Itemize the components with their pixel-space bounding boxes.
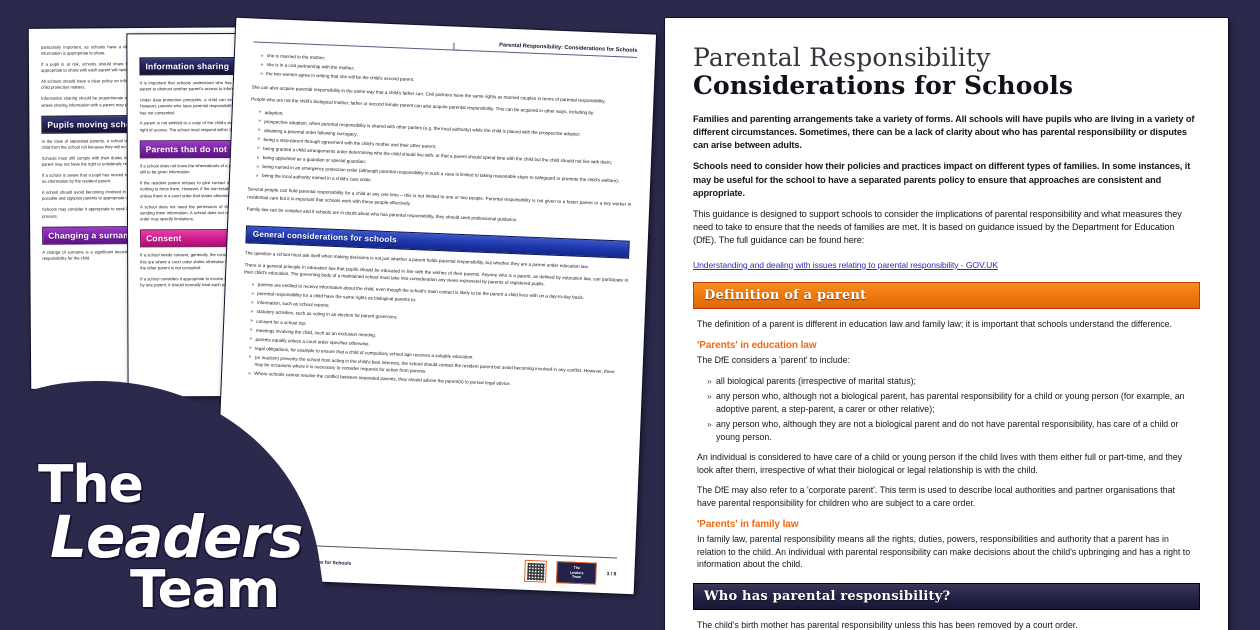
right-page-content: Parental Responsibility Considerations f… <box>665 18 1228 630</box>
section-banner-definition-of-a-parent: Definition of a parent <box>693 282 1200 309</box>
screenshot-stage: particularly important, as schools have … <box>0 0 1260 630</box>
page-title-line1: Parental Responsibility <box>693 44 1200 72</box>
brand-line-leaders: Leaders <box>50 510 302 566</box>
front-bullets-mid: adoption; prospective adoption, when par… <box>248 108 635 196</box>
section-paragraph: The child's birth mother has parental re… <box>697 619 1196 630</box>
footer-logo: The Leaders Team <box>556 561 597 585</box>
gov-uk-guidance-link[interactable]: Understanding and dealing with issues re… <box>693 260 998 270</box>
footer-logo-line3: Team <box>572 575 581 580</box>
front-bullets-bottom: parents are entitled to receive informat… <box>240 280 628 394</box>
section-paragraph: An individual is considered to have care… <box>697 451 1196 476</box>
subheading-parents-family-law: 'Parents' in family law <box>697 519 1196 530</box>
section-who-has-pr-body: The child's birth mother has parental re… <box>693 619 1200 630</box>
intro-paragraph: Families and parenting arrangements take… <box>693 113 1200 152</box>
subsection-lead: The DfE considers a 'parent' to include: <box>697 354 1196 366</box>
section-definition-body: The definition of a parent is different … <box>693 318 1200 571</box>
document-page-right[interactable]: Parental Responsibility Considerations f… <box>665 18 1228 630</box>
qr-code-icon[interactable] <box>524 560 547 583</box>
list-item: any person who, although not a biologica… <box>707 390 1196 415</box>
brand-logo: The Leaders Team <box>38 461 302 616</box>
intro-paragraph: Schools need to consider how their polic… <box>693 160 1200 199</box>
section-lead: The definition of a parent is different … <box>697 318 1196 330</box>
list-item: all biological parents (irrespective of … <box>707 375 1196 387</box>
subheading-parents-education-law: 'Parents' in education law <box>697 340 1196 351</box>
head-tick-icon <box>453 43 459 51</box>
intro-paragraph: This guidance is designed to support sch… <box>693 208 1200 247</box>
page-title-line2: Considerations for Schools <box>693 72 1200 101</box>
footer-spacer <box>361 564 515 570</box>
brand-line-team: Team <box>130 566 302 616</box>
section-paragraph: In family law, parental responsibility m… <box>697 533 1196 570</box>
education-law-bullets: all biological parents (irrespective of … <box>697 375 1196 443</box>
section-banner-who-has-parental-responsibility: Who has parental responsibility? <box>693 583 1200 610</box>
list-item: any person who, although they are not a … <box>707 418 1196 443</box>
page-number: 3 / 8 <box>607 571 617 577</box>
section-paragraph: The DfE may also refer to a 'corporate p… <box>697 484 1196 509</box>
running-head-label: Parental Responsibility: Considerations … <box>499 42 637 54</box>
